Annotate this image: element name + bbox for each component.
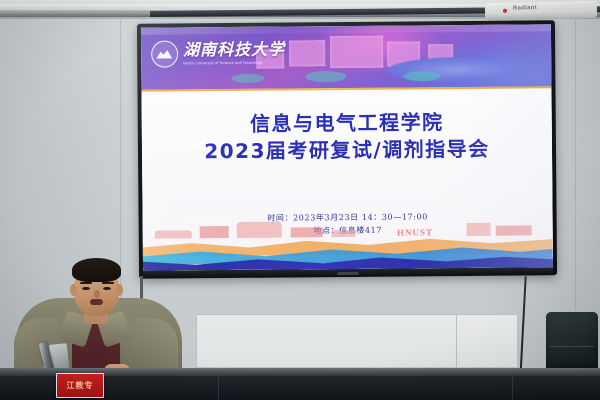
skyline-building xyxy=(155,230,192,238)
wall-panel-seam xyxy=(575,20,576,310)
university-seal-icon xyxy=(151,40,178,67)
slide-body: 信息与电气工程学院 2023届考研复试/调剂指导会 时间：2023年3月23日 … xyxy=(141,88,553,271)
speaker-eye-left xyxy=(82,287,90,291)
campus-greenery xyxy=(232,74,265,84)
chair-seam xyxy=(550,346,594,347)
name-placard-text: 江教专 xyxy=(67,380,94,391)
hnust-watermark: HNUST xyxy=(397,227,433,237)
campus-building xyxy=(289,40,326,66)
slide-title-block: 信息与电气工程学院 2023届考研复试/调剂指导会 xyxy=(142,108,552,165)
slide-skyline-decoration: HNUST xyxy=(143,215,553,245)
skyline-building xyxy=(467,223,492,236)
presentation-slide: 湖南科技大学 Hunan University of Science and T… xyxy=(141,24,553,271)
device-brand-label: Radiant xyxy=(513,5,537,12)
wall-panel-divider xyxy=(456,315,457,367)
wall-mounted-display[interactable]: 湖南科技大学 Hunan University of Science and T… xyxy=(137,20,557,279)
university-name-en: Hunan University of Science and Technolo… xyxy=(183,60,285,65)
university-name-cn: 湖南科技大学 xyxy=(183,42,285,59)
name-placard: 江教专 xyxy=(56,373,104,398)
speaker-eye-right xyxy=(103,287,111,291)
speaker-brow-right xyxy=(102,282,114,285)
university-logo: 湖南科技大学 Hunan University of Science and T… xyxy=(151,40,285,68)
speaker-mouth xyxy=(90,299,103,305)
slide-header-banner: 湖南科技大学 Hunan University of Science and T… xyxy=(141,24,552,90)
slide-title-line-1: 信息与电气工程学院 xyxy=(142,108,552,138)
skyline-building xyxy=(495,225,532,235)
speaker-hair xyxy=(72,258,121,282)
campus-greenery xyxy=(305,71,346,83)
wall-panel xyxy=(196,314,518,368)
conference-room-photo: Radiant xyxy=(0,0,600,400)
desk-panel-seam xyxy=(512,376,513,400)
skyline-building xyxy=(200,226,229,238)
skyline-building xyxy=(290,227,323,237)
speaker-nose xyxy=(94,290,100,298)
slide-title-line-2: 2023届考研复试/调剂指导会 xyxy=(142,135,552,165)
speaker-brow-left xyxy=(80,282,92,285)
speaker-ear-left xyxy=(70,284,77,296)
skyline-building xyxy=(237,222,282,238)
power-led-icon xyxy=(503,9,507,13)
desk-panel-seam xyxy=(218,376,219,400)
tv-screen: 湖南科技大学 Hunan University of Science and T… xyxy=(141,24,553,271)
skyline-building xyxy=(331,230,356,237)
tv-brand-logo xyxy=(337,272,359,275)
speaker-ear-right xyxy=(116,284,123,296)
campus-greenery xyxy=(404,71,441,81)
office-chair[interactable] xyxy=(546,312,598,372)
campus-building xyxy=(330,36,384,69)
air-conditioner-unit: Radiant xyxy=(485,1,597,20)
